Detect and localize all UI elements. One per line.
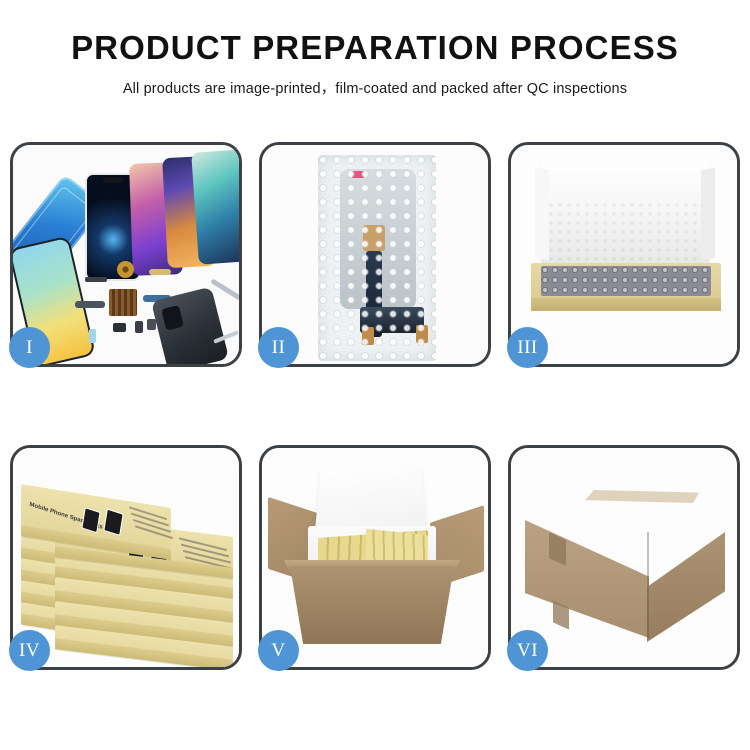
camera-module-icon <box>147 319 156 330</box>
step-image-phone-parts-assortment <box>13 145 239 364</box>
step-badge-1: I <box>9 327 50 368</box>
step-image-bubble-wrapped-screen <box>262 145 488 364</box>
button-part-icon <box>135 321 143 333</box>
step-panel-4[interactable]: Mobile Phone Spare Parts Mobile Phone Sp… <box>10 445 242 670</box>
sealed-carton-icon <box>525 476 725 642</box>
carton-face-side <box>647 532 725 642</box>
page-subtitle: All products are image-printed，film-coat… <box>0 77 750 98</box>
product-preparation-infographic: PRODUCT PREPARATION PROCESS All products… <box>0 0 750 750</box>
gold-contact-right-icon <box>416 325 428 343</box>
step-badge-2: II <box>258 327 299 368</box>
pink-label-tab-icon <box>352 171 364 178</box>
carton-body-icon <box>290 566 454 644</box>
steps-grid: I II <box>10 142 740 670</box>
foam-texture-overlay <box>547 201 703 263</box>
box-screen-thumb <box>103 509 123 536</box>
step-panel-3[interactable]: III <box>508 142 740 367</box>
earpiece-part-icon <box>113 323 126 332</box>
copper-coil-part-icon <box>117 261 134 278</box>
header: PRODUCT PREPARATION PROCESS All products… <box>0 0 750 98</box>
box-stack: Mobile Phone Spare Parts Mobile Phone Sp… <box>19 468 237 658</box>
speaker-bar-part-icon <box>85 277 107 282</box>
step-panel-1[interactable]: I <box>10 142 242 367</box>
step-panel-2[interactable]: II <box>259 142 491 367</box>
step-image-foam-carton-packing <box>262 448 488 667</box>
tweezers-tool-icon <box>210 278 239 300</box>
step-badge-3: III <box>507 327 548 368</box>
page-title: PRODUCT PREPARATION PROCESS <box>0 30 750 66</box>
carton-edge-line <box>647 532 649 638</box>
step-panel-5[interactable]: V <box>259 445 491 670</box>
bubble-wrapped-contents-icon <box>541 266 711 296</box>
screw-tray-part-icon <box>109 289 137 316</box>
gold-contact-left-icon <box>362 327 374 345</box>
step-badge-4: IV <box>9 630 50 671</box>
chip-part-icon <box>89 329 96 343</box>
bubble-wrap-bag-icon <box>318 155 436 361</box>
yellow-tray-box-icon <box>531 263 721 311</box>
step-badge-6: VI <box>507 630 548 671</box>
step-image-inner-tray-box <box>511 145 737 364</box>
step-badge-5: V <box>258 630 299 671</box>
flex-cable-left-icon <box>75 301 105 308</box>
gold-connector-icon <box>149 269 171 275</box>
step-image-stacked-retail-boxes: Mobile Phone Spare Parts Mobile Phone Sp… <box>13 448 239 667</box>
teal-gradient-phone-icon <box>191 149 239 264</box>
box-screen-thumb <box>81 507 100 533</box>
tray-front-lip <box>531 298 721 311</box>
step-image-sealed-shipping-carton <box>511 448 737 667</box>
step-panel-6[interactable]: VI <box>508 445 740 670</box>
back-housing-icon <box>151 287 229 364</box>
